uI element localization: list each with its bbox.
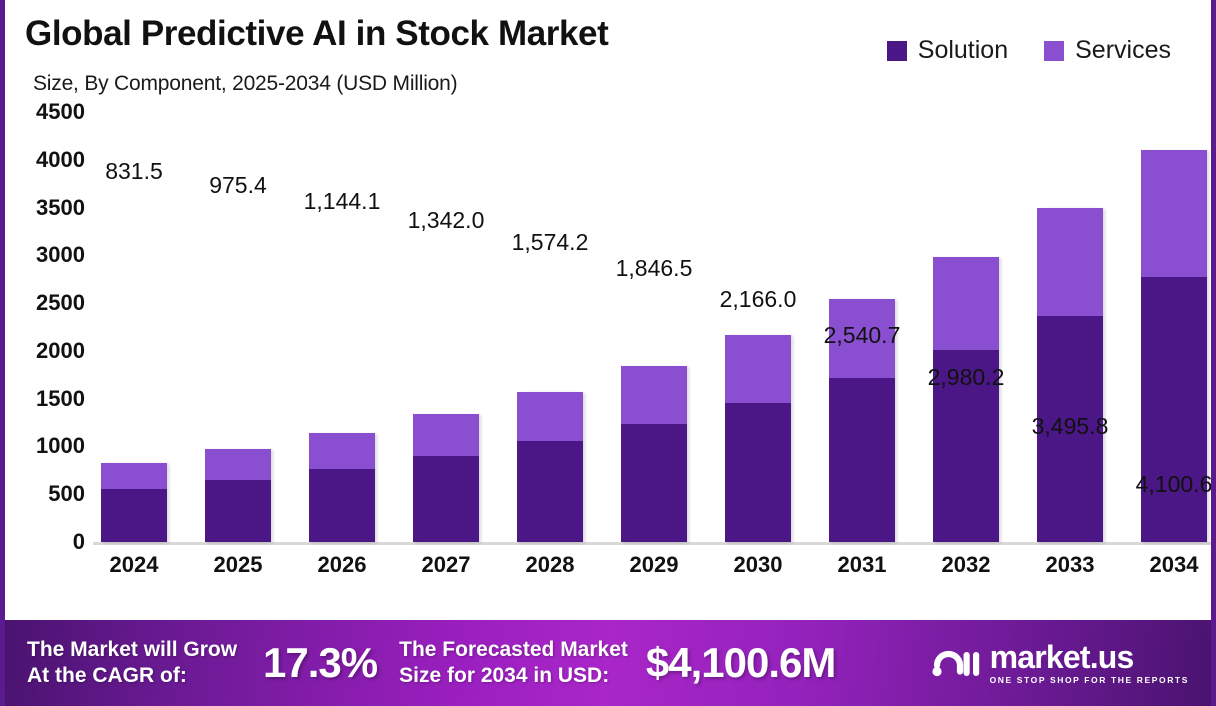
x-axis-tick-label: 2030 bbox=[725, 552, 791, 578]
bar-stack[interactable] bbox=[933, 257, 999, 542]
y-axis-tick-label: 4500 bbox=[36, 99, 85, 125]
bar-segment-services[interactable] bbox=[933, 257, 999, 349]
legend-swatch-services bbox=[1044, 41, 1064, 61]
bar-segment-solution[interactable] bbox=[309, 469, 375, 542]
bar-segment-services[interactable] bbox=[413, 414, 479, 456]
y-axis-tick-label: 3500 bbox=[36, 195, 85, 221]
bar-total-label: 975.4 bbox=[209, 172, 267, 199]
bar-stack[interactable] bbox=[309, 433, 375, 542]
x-axis-tick-label: 2034 bbox=[1141, 552, 1207, 578]
bar-segment-solution[interactable] bbox=[829, 378, 895, 542]
bar-column[interactable]: 2,540.7 bbox=[829, 112, 895, 542]
x-axis-tick-label: 2027 bbox=[413, 552, 479, 578]
legend-item-solution[interactable]: Solution bbox=[887, 36, 1008, 65]
y-axis-tick-label: 2500 bbox=[36, 290, 85, 316]
market-us-logo-text: market.us ONE STOP SHOP FOR THE REPORTS bbox=[990, 641, 1189, 685]
bar-column[interactable]: 2,166.0 bbox=[725, 112, 791, 542]
bar-column[interactable]: 975.4 bbox=[205, 112, 271, 542]
y-axis-tick-label: 4000 bbox=[36, 147, 85, 173]
market-us-logo[interactable]: market.us ONE STOP SHOP FOR THE REPORTS bbox=[932, 641, 1189, 685]
x-axis-tick-label: 2025 bbox=[205, 552, 271, 578]
bar-column[interactable]: 1,846.5 bbox=[621, 112, 687, 542]
forecast-label: The Forecasted Market Size for 2034 in U… bbox=[399, 637, 628, 688]
logo-wordmark: market.us bbox=[990, 641, 1134, 673]
bar-total-label: 1,342.0 bbox=[408, 207, 485, 234]
bar-total-label: 2,166.0 bbox=[720, 286, 797, 313]
x-axis-baseline bbox=[93, 542, 1211, 545]
bar-stack[interactable] bbox=[413, 414, 479, 542]
bar-column[interactable]: 3,495.8 bbox=[1037, 112, 1103, 542]
cagr-value: 17.3% bbox=[263, 639, 377, 687]
y-axis: 050010001500200025003000350040004500 bbox=[5, 112, 93, 544]
bar-segment-services[interactable] bbox=[101, 463, 167, 489]
market-us-logo-mark bbox=[932, 646, 980, 680]
bar-segment-solution[interactable] bbox=[621, 424, 687, 542]
bar-segment-services[interactable] bbox=[1141, 150, 1207, 276]
cagr-label: The Market will Grow At the CAGR of: bbox=[27, 637, 237, 688]
bar-segment-solution[interactable] bbox=[725, 403, 791, 542]
bar-stack[interactable] bbox=[1037, 208, 1103, 542]
chart-header: Global Predictive AI in Stock Market Siz… bbox=[5, 0, 1211, 112]
bar-column[interactable]: 2,980.2 bbox=[933, 112, 999, 542]
bar-column[interactable]: 1,342.0 bbox=[413, 112, 479, 542]
x-axis-tick-label: 2031 bbox=[829, 552, 895, 578]
legend-item-services[interactable]: Services bbox=[1044, 36, 1171, 65]
logo-tagline: ONE STOP SHOP FOR THE REPORTS bbox=[990, 676, 1189, 685]
legend-swatch-solution bbox=[887, 41, 907, 61]
page-subtitle: Size, By Component, 2025-2034 (USD Milli… bbox=[33, 72, 457, 96]
bar-stack[interactable] bbox=[517, 392, 583, 542]
y-axis-tick-label: 3000 bbox=[36, 242, 85, 268]
summary-banner: The Market will Grow At the CAGR of: 17.… bbox=[5, 620, 1211, 706]
bar-column[interactable]: 1,574.2 bbox=[517, 112, 583, 542]
bar-segment-services[interactable] bbox=[309, 433, 375, 469]
x-axis-tick-label: 2029 bbox=[621, 552, 687, 578]
bar-stack[interactable] bbox=[205, 449, 271, 542]
x-axis-tick-label: 2028 bbox=[517, 552, 583, 578]
bar-total-label: 1,574.2 bbox=[512, 229, 589, 256]
x-axis-tick-label: 2033 bbox=[1037, 552, 1103, 578]
bar-segment-services[interactable] bbox=[1037, 208, 1103, 316]
page-title: Global Predictive AI in Stock Market bbox=[25, 14, 608, 54]
bar-segment-solution[interactable] bbox=[517, 441, 583, 542]
bar-column[interactable]: 831.5 bbox=[101, 112, 167, 542]
bar-segment-services[interactable] bbox=[205, 449, 271, 480]
bar-total-label: 2,980.2 bbox=[928, 364, 1005, 391]
legend-label-services: Services bbox=[1075, 36, 1171, 65]
y-axis-tick-label: 1000 bbox=[36, 433, 85, 459]
bar-total-label: 1,846.5 bbox=[616, 255, 693, 282]
bar-segment-services[interactable] bbox=[621, 366, 687, 424]
x-axis-tick-label: 2032 bbox=[933, 552, 999, 578]
bar-segment-solution[interactable] bbox=[205, 480, 271, 542]
y-axis-tick-label: 0 bbox=[73, 529, 85, 555]
forecast-value: $4,100.6M bbox=[646, 639, 835, 687]
bar-column[interactable]: 4,100.6 bbox=[1141, 112, 1207, 542]
chart-plot-area: 050010001500200025003000350040004500 831… bbox=[5, 112, 1216, 605]
infographic-root: Global Predictive AI in Stock Market Siz… bbox=[0, 0, 1216, 706]
bar-stack[interactable] bbox=[621, 366, 687, 542]
bar-stack[interactable] bbox=[725, 335, 791, 542]
bar-stack[interactable] bbox=[101, 463, 167, 542]
bar-segment-solution[interactable] bbox=[101, 489, 167, 542]
bar-total-label: 2,540.7 bbox=[824, 322, 901, 349]
bar-column[interactable]: 1,144.1 bbox=[309, 112, 375, 542]
x-axis-tick-label: 2024 bbox=[101, 552, 167, 578]
x-axis: 2024202520262027202820292030203120322033… bbox=[101, 552, 1207, 578]
bar-total-label: 831.5 bbox=[105, 158, 163, 185]
bar-total-label: 1,144.1 bbox=[304, 188, 381, 215]
legend-label-solution: Solution bbox=[918, 36, 1008, 65]
bar-segment-solution[interactable] bbox=[413, 456, 479, 542]
x-axis-tick-label: 2026 bbox=[309, 552, 375, 578]
y-axis-tick-label: 2000 bbox=[36, 338, 85, 364]
bar-series-container: 831.5975.41,144.11,342.01,574.21,846.52,… bbox=[101, 112, 1207, 542]
bar-segment-services[interactable] bbox=[725, 335, 791, 403]
y-axis-tick-label: 500 bbox=[48, 481, 85, 507]
bar-total-label: 3,495.8 bbox=[1032, 413, 1109, 440]
y-axis-tick-label: 1500 bbox=[36, 386, 85, 412]
bar-total-label: 4,100.6 bbox=[1136, 471, 1213, 498]
chart-legend: Solution Services bbox=[887, 36, 1171, 65]
bar-segment-solution[interactable] bbox=[1141, 277, 1207, 542]
bar-segment-services[interactable] bbox=[517, 392, 583, 442]
